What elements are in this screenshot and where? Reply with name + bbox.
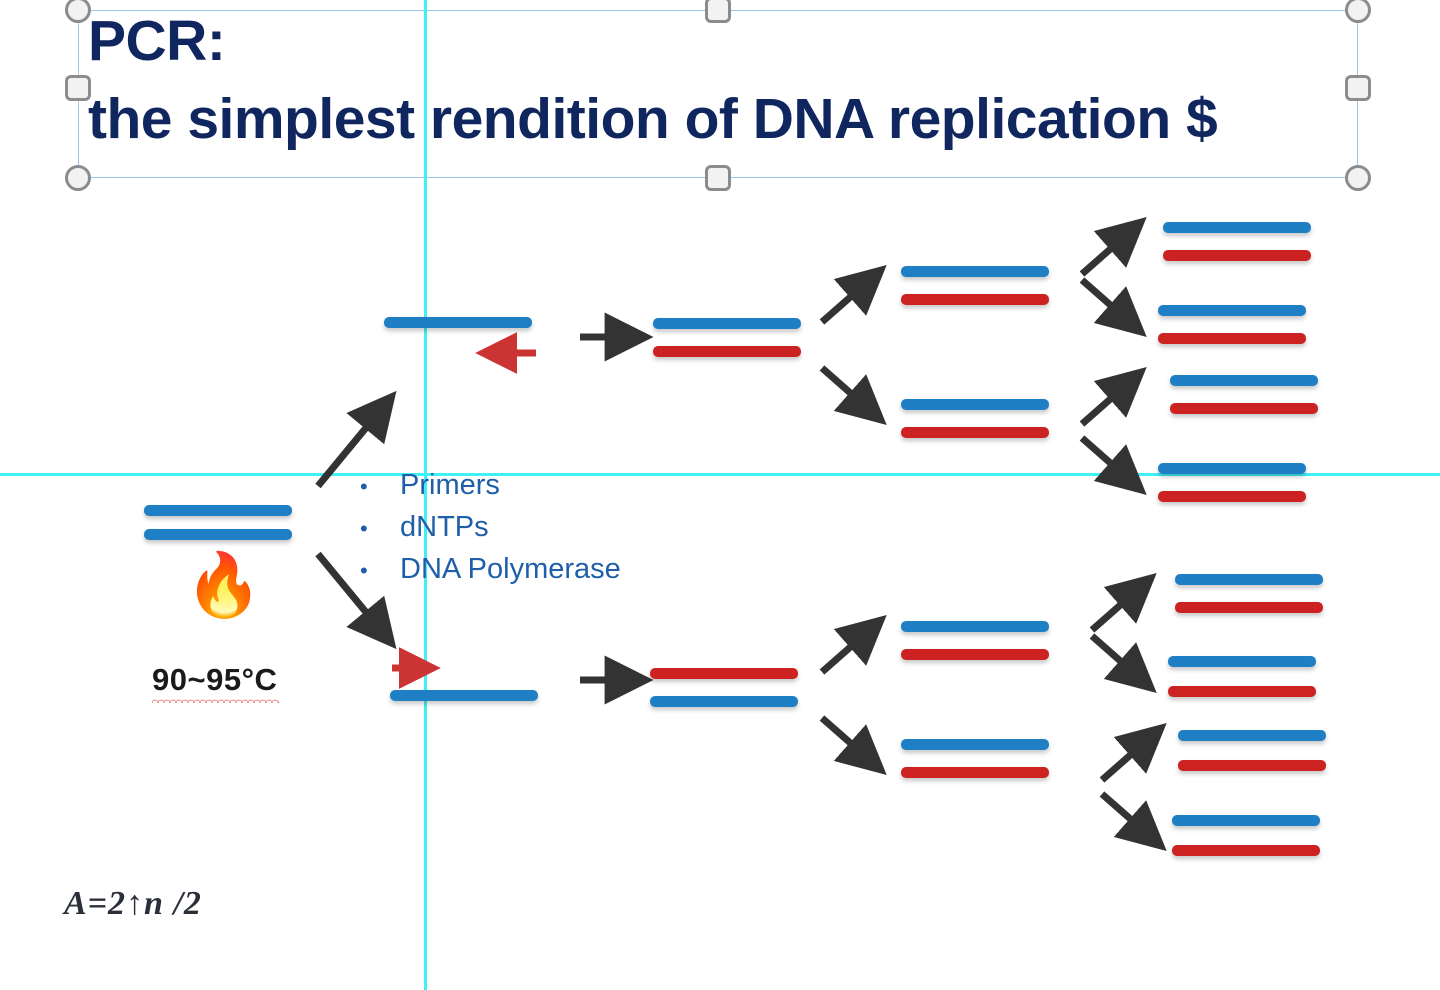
strand-blue — [1158, 463, 1306, 474]
strand-blue — [1168, 656, 1316, 667]
strand-blue — [1172, 815, 1320, 826]
slide-canvas: PCR: the simplest rendition of DNA repli… — [0, 0, 1440, 990]
handle-middle-right[interactable] — [1345, 75, 1371, 101]
strand-blue — [901, 399, 1049, 410]
handle-top-right[interactable] — [1345, 0, 1371, 23]
process-arrow-top — [578, 322, 648, 352]
primer-arrow-right-icon — [390, 655, 450, 685]
branch-arrow-g3-2-down — [1078, 430, 1148, 490]
title-placeholder[interactable]: PCR: the simplest rendition of DNA repli… — [78, 10, 1358, 178]
strand-blue — [1158, 305, 1306, 316]
branch-arrow-g3-3-down — [1088, 628, 1158, 688]
strand-red — [1158, 491, 1306, 502]
strand-blue — [384, 317, 532, 328]
list-item: • DNA Polymerase — [360, 549, 740, 591]
strand-blue — [1175, 574, 1323, 585]
bullet-icon: • — [360, 508, 400, 549]
branch-arrow-g3-4-up — [1098, 728, 1168, 788]
branch-arrow-top-up — [818, 270, 888, 330]
strand-blue — [1178, 730, 1326, 741]
strand-red — [650, 668, 798, 679]
branch-arrow-bottom-down — [818, 710, 888, 770]
strand-blue — [390, 690, 538, 701]
branch-arrow-bottom-up — [818, 620, 888, 680]
handle-bottom-right[interactable] — [1345, 165, 1371, 191]
strand-blue — [650, 696, 798, 707]
strand-blue — [1170, 375, 1318, 386]
strand-red — [1175, 602, 1323, 613]
temperature-label: 90~95°C — [152, 662, 277, 698]
strand-red — [901, 649, 1049, 660]
amplification-formula: A=2↑n /2 — [64, 885, 202, 923]
branch-arrow-g3-2-up — [1078, 372, 1148, 432]
reagents-list: • Primers • dNTPs • DNA Polymerase — [360, 465, 740, 591]
handle-middle-left[interactable] — [65, 75, 91, 101]
strand-blue — [144, 505, 292, 516]
branch-arrow-g3-1-down — [1078, 272, 1148, 332]
spellcheck-underline — [152, 697, 279, 703]
strand-red — [1158, 333, 1306, 344]
handle-bottom-center[interactable] — [705, 165, 731, 191]
strand-red — [1178, 760, 1326, 771]
strand-blue — [901, 739, 1049, 750]
strand-red — [1163, 250, 1311, 261]
reagent-label: Primers — [400, 465, 500, 506]
strand-blue — [144, 529, 292, 540]
process-arrow-bottom — [578, 665, 648, 695]
page-title: PCR: the simplest rendition of DNA repli… — [88, 2, 1358, 158]
bullet-icon: • — [360, 550, 400, 591]
strand-blue — [901, 621, 1049, 632]
strand-red — [901, 294, 1049, 305]
strand-blue — [653, 318, 801, 329]
handle-top-center[interactable] — [705, 0, 731, 23]
branch-arrow-top-down — [818, 360, 888, 420]
list-item: • Primers — [360, 465, 740, 507]
strand-red — [1172, 845, 1320, 856]
handle-bottom-left[interactable] — [65, 165, 91, 191]
temperature-text: 90~95°C — [152, 662, 277, 697]
strand-blue — [1163, 222, 1311, 233]
list-item: • dNTPs — [360, 507, 740, 549]
strand-red — [653, 346, 801, 357]
strand-red — [901, 767, 1049, 778]
bullet-icon: • — [360, 466, 400, 507]
strand-red — [901, 427, 1049, 438]
flame-icon: 🔥 — [185, 555, 262, 617]
strand-blue — [901, 266, 1049, 277]
branch-arrow-g3-4-down — [1098, 786, 1168, 846]
strand-red — [1170, 403, 1318, 414]
reagent-label: dNTPs — [400, 507, 489, 548]
reagent-label: DNA Polymerase — [400, 549, 621, 590]
primer-arrow-left-icon — [482, 340, 542, 370]
strand-red — [1168, 686, 1316, 697]
